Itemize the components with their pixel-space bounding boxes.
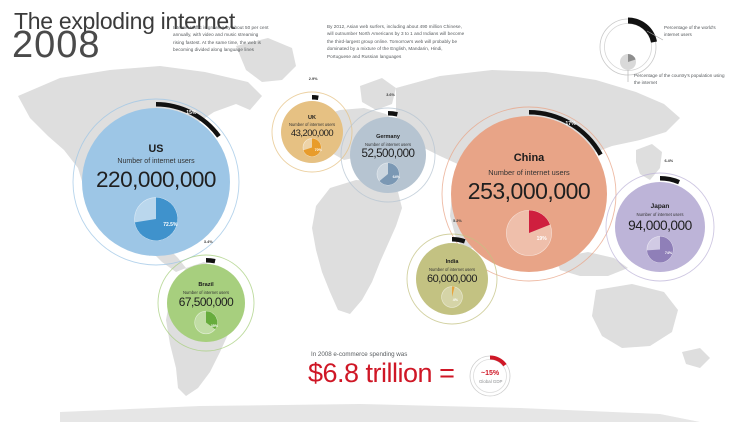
world-share-wedge	[452, 237, 465, 243]
intro-paragraph-left: Internet traffic is growing by about 50 …	[173, 24, 269, 54]
ecommerce-caption: In 2008 e-commerce spending was	[311, 351, 407, 358]
bubble-users-value: 94,000,000	[589, 219, 730, 233]
population-percent-label: 64%	[393, 175, 400, 179]
ecommerce-amount: $6.8 trillion =	[308, 358, 454, 389]
intro-paragraph-right: By 2012, Asian web surfers, including ab…	[327, 23, 467, 60]
world-share-percent-label: 3.4%	[204, 240, 213, 244]
bubble-country-name: Japan	[589, 204, 730, 211]
legend-population-label: Percentage of the country's population u…	[634, 72, 728, 87]
world-share-wedge	[206, 258, 216, 263]
bubble-text-brazil: BrazilNumber of internet users67,500,000	[141, 283, 271, 309]
world-share-percent-label: 3.6%	[386, 93, 395, 97]
population-percent-label: 72.5%	[163, 222, 177, 228]
country-bubble-india[interactable]: IndiaNumber of internet users60,000,0005…	[390, 217, 514, 341]
country-bubble-japan[interactable]: JapanNumber of internet users94,000,0006…	[589, 156, 730, 298]
country-bubble-brazil[interactable]: BrazilNumber of internet users67,500,000…	[141, 238, 271, 368]
legend-world-share-label: Percentage of the world's internet users	[664, 24, 726, 39]
population-percent-label: 35%	[211, 324, 218, 328]
bubble-subtitle: Number of internet users	[589, 213, 730, 218]
bubble-users-value: 220,000,000	[56, 169, 256, 192]
bubble-text-india: IndiaNumber of internet users60,000,000	[390, 260, 514, 285]
bubble-text-japan: JapanNumber of internet users94,000,000	[589, 204, 730, 233]
bubble-country-name: Brazil	[141, 283, 271, 289]
population-percent-label: 70%	[315, 148, 322, 152]
bubble-text-us: USNumber of internet users220,000,000	[56, 144, 256, 192]
ecommerce-wedge	[490, 356, 507, 367]
bubble-users-value: 60,000,000	[390, 274, 514, 285]
world-share-wedge	[388, 111, 398, 117]
bubble-users-value: 67,500,000	[141, 297, 271, 309]
world-share-percent-label: 6.4%	[664, 159, 673, 163]
bubble-subtitle: Number of internet users	[390, 268, 514, 273]
population-percent-label: 19%	[537, 236, 547, 242]
world-share-wedge	[312, 95, 319, 100]
infographic-canvas: The exploding internet 2008 Internet tra…	[0, 0, 730, 432]
world-share-percent-label: 2.9%	[309, 77, 318, 81]
ecommerce-percent: ~15%	[481, 370, 499, 377]
world-share-percent-label: 17%	[565, 121, 575, 127]
population-percent-label: 74%	[665, 251, 672, 255]
world-share-percent-label: 5.2%	[453, 219, 462, 223]
bubble-country-name: US	[56, 144, 256, 155]
bubble-subtitle: Number of internet users	[56, 158, 256, 166]
page-year: 2008	[12, 24, 101, 67]
legend-world-share-wedge	[628, 18, 657, 43]
population-percent-label: 4%	[453, 298, 458, 302]
ecommerce-percent-sub: Global GDP	[479, 379, 502, 384]
bubble-country-name: India	[390, 260, 514, 266]
world-share-percent-label: 15%	[186, 110, 196, 116]
